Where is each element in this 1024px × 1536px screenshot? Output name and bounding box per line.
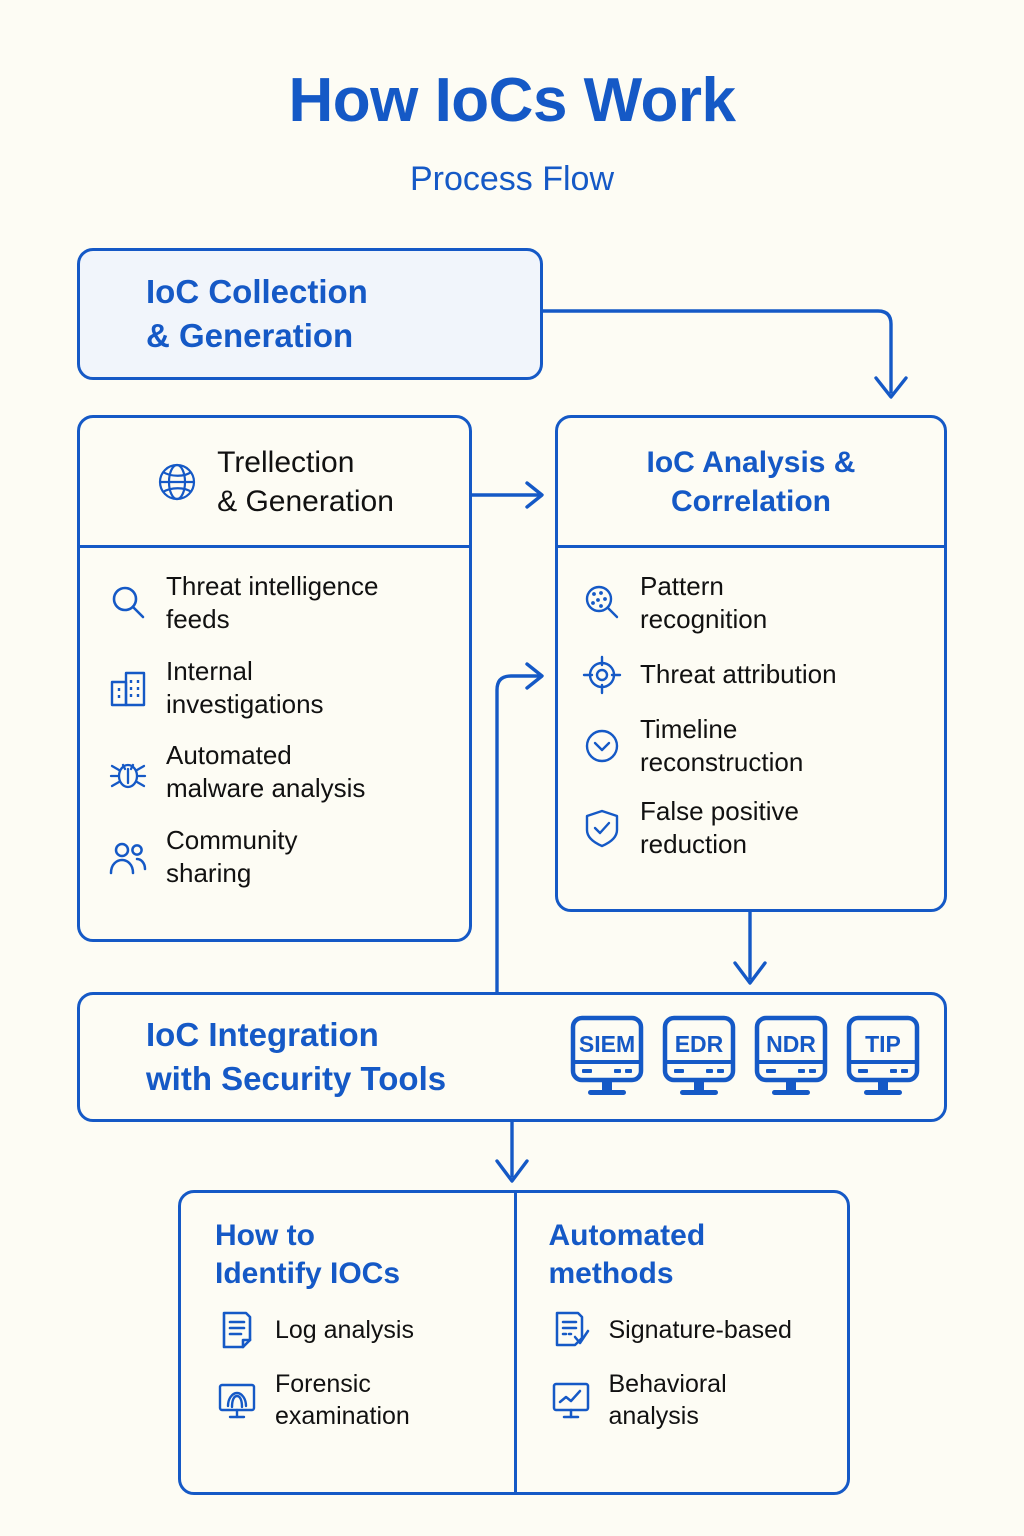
- column-automated-methods-title: Automated methods: [549, 1217, 838, 1292]
- list-item-line1: False positive: [640, 795, 799, 828]
- list-item-line2: reduction: [640, 828, 799, 861]
- document-lines-icon: [215, 1308, 259, 1352]
- list-item-label: Internal investigations: [166, 655, 324, 722]
- list-item[interactable]: Threat intelligence feeds: [106, 570, 453, 637]
- column-how-to-identify-title-line1: How to: [215, 1217, 504, 1255]
- column-how-to-identify-title: How to Identify IOCs: [215, 1217, 504, 1292]
- list-item[interactable]: Behavioral analysis: [549, 1368, 838, 1432]
- list-item[interactable]: Timeline reconstruction: [580, 713, 928, 780]
- list-item-line1: Forensic: [275, 1368, 410, 1400]
- shield-check-icon: [580, 806, 624, 850]
- list-item-line1: Threat intelligence: [166, 570, 378, 603]
- list-item-line1: Signature-based: [609, 1314, 792, 1346]
- list-item-line2: reconstruction: [640, 746, 803, 779]
- stage-ioc-integration[interactable]: IoC Integration with Security Tools SIEM: [77, 992, 947, 1122]
- list-item-label: False positive reduction: [640, 795, 799, 862]
- panel-analysis-list: Pattern recognition Threat at: [558, 548, 944, 862]
- list-item-label: Community sharing: [166, 824, 297, 891]
- list-item-line2: malware analysis: [166, 772, 365, 805]
- list-item-line1: Pattern: [640, 570, 767, 603]
- globe-icon: [155, 460, 199, 504]
- column-automated-methods-title-line1: Automated: [549, 1217, 838, 1255]
- list-item-label: Forensic examination: [275, 1368, 410, 1432]
- list-item-line1: Community: [166, 824, 297, 857]
- list-item-label: Timeline reconstruction: [640, 713, 803, 780]
- stage-ioc-collection-title-line1: IoC Collection: [146, 270, 368, 314]
- list-item-label: Threat intelligence feeds: [166, 570, 378, 637]
- list-item-label: Signature-based: [609, 1314, 792, 1346]
- monitor-icon-ndr[interactable]: NDR: [752, 1014, 830, 1100]
- panel-analysis-header-line1: IoC Analysis &: [572, 443, 930, 482]
- list-item-label: Automated malware analysis: [166, 739, 365, 806]
- list-item-line2: feeds: [166, 603, 378, 636]
- list-item-label: Log analysis: [275, 1314, 414, 1346]
- document-check-icon: [549, 1308, 593, 1352]
- column-automated-methods: Automated methods Signature-based: [514, 1193, 848, 1492]
- list-item-line1: Automated: [166, 739, 365, 772]
- bug-icon: [106, 750, 150, 794]
- list-item[interactable]: Community sharing: [106, 824, 453, 891]
- panel-sources-header-text: Trellection & Generation: [217, 443, 394, 521]
- list-item[interactable]: Automated malware analysis: [106, 739, 453, 806]
- page-title: How IoCs Work: [0, 68, 1024, 133]
- panel-identify-iocs[interactable]: How to Identify IOCs Log analysis: [178, 1190, 850, 1495]
- monitor-icon-siem[interactable]: SIEM: [568, 1014, 646, 1100]
- stage-ioc-integration-title-line1: IoC Integration: [146, 1013, 446, 1057]
- list-item-line2: recognition: [640, 603, 767, 636]
- pattern-magnifier-icon: [580, 581, 624, 625]
- panel-sources-header-line2: & Generation: [217, 482, 394, 521]
- panel-analysis[interactable]: IoC Analysis & Correlation: [555, 415, 947, 912]
- list-item-line2: analysis: [609, 1400, 727, 1432]
- svg-text:SIEM: SIEM: [579, 1031, 635, 1057]
- infographic-canvas: How IoCs Work Process Flow IoC Collectio…: [0, 0, 1024, 1536]
- stage-ioc-collection[interactable]: IoC Collection & Generation: [77, 248, 543, 380]
- column-how-to-identify: How to Identify IOCs Log analysis: [181, 1193, 514, 1492]
- panel-analysis-header: IoC Analysis & Correlation: [558, 418, 944, 548]
- page-subtitle: Process Flow: [0, 160, 1024, 199]
- building-icon: [106, 666, 150, 710]
- panel-sources[interactable]: Trellection & Generation Threat intellig…: [77, 415, 472, 942]
- security-tool-icons: SIEM EDR: [568, 1014, 922, 1100]
- panel-sources-header-line1: Trellection: [217, 443, 394, 482]
- stage-ioc-collection-title-line2: & Generation: [146, 314, 368, 358]
- people-icon: [106, 835, 150, 879]
- list-item[interactable]: Internal investigations: [106, 655, 453, 722]
- panel-analysis-header-text: IoC Analysis & Correlation: [572, 443, 930, 521]
- list-item-label: Pattern recognition: [640, 570, 767, 637]
- svg-text:TIP: TIP: [865, 1031, 901, 1057]
- list-item[interactable]: Pattern recognition: [580, 570, 928, 637]
- panel-analysis-header-line2: Correlation: [572, 482, 930, 521]
- list-item-line1: Timeline: [640, 713, 803, 746]
- svg-text:EDR: EDR: [675, 1031, 724, 1057]
- chart-monitor-icon: [549, 1378, 593, 1422]
- list-item-line1: Log analysis: [275, 1314, 414, 1346]
- list-item[interactable]: Log analysis: [215, 1308, 504, 1352]
- list-item[interactable]: Threat attribution: [580, 653, 928, 697]
- panel-sources-header: Trellection & Generation: [80, 418, 469, 548]
- stage-ioc-integration-title: IoC Integration with Security Tools: [146, 1013, 446, 1100]
- list-item-line2: sharing: [166, 857, 297, 890]
- monitor-icon-tip[interactable]: TIP: [844, 1014, 922, 1100]
- list-item[interactable]: False positive reduction: [580, 795, 928, 862]
- forensic-monitor-icon: [215, 1378, 259, 1422]
- clock-icon: [580, 724, 624, 768]
- list-item[interactable]: Signature-based: [549, 1308, 838, 1352]
- magnifier-icon: [106, 581, 150, 625]
- column-how-to-identify-title-line2: Identify IOCs: [215, 1255, 504, 1293]
- svg-text:NDR: NDR: [766, 1031, 816, 1057]
- list-item-line1: Threat attribution: [640, 658, 837, 691]
- list-item-label: Behavioral analysis: [609, 1368, 727, 1432]
- stage-ioc-integration-title-line2: with Security Tools: [146, 1057, 446, 1101]
- column-automated-methods-title-line2: methods: [549, 1255, 838, 1293]
- target-icon: [580, 653, 624, 697]
- monitor-icon-edr[interactable]: EDR: [660, 1014, 738, 1100]
- panel-sources-list: Threat intelligence feeds Internal: [80, 548, 469, 890]
- list-item-line1: Internal: [166, 655, 324, 688]
- list-item-line2: investigations: [166, 688, 324, 721]
- list-item-line2: examination: [275, 1400, 410, 1432]
- list-item-line1: Behavioral: [609, 1368, 727, 1400]
- list-item-label: Threat attribution: [640, 658, 837, 691]
- list-item[interactable]: Forensic examination: [215, 1368, 504, 1432]
- stage-ioc-collection-title: IoC Collection & Generation: [80, 270, 368, 357]
